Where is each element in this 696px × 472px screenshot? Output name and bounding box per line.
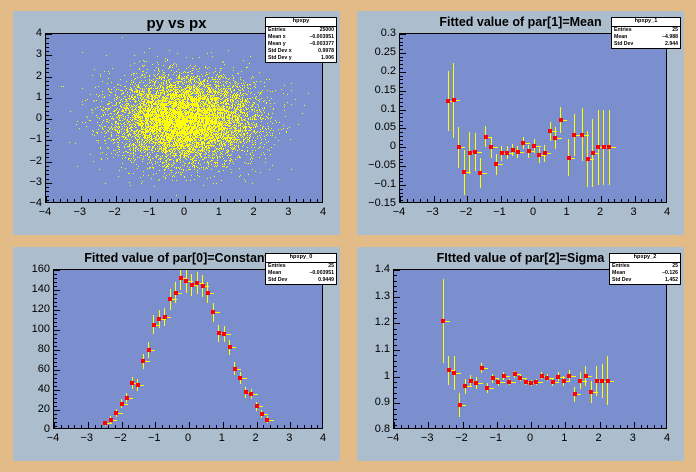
pad-py-vs-px: py vs px−4−3−2−101234−4−3−2−101234hpxpyE… — [13, 11, 340, 235]
scatter-point — [302, 113, 303, 114]
scatter-point — [121, 136, 122, 137]
scatter-point — [104, 97, 105, 98]
x-minor-tick — [157, 199, 158, 202]
scatter-point — [213, 183, 214, 184]
x-minor-tick — [282, 199, 283, 202]
scatter-point — [291, 104, 292, 105]
scatter-point — [221, 76, 222, 77]
scatter-point — [109, 108, 110, 109]
scatter-point — [272, 113, 273, 114]
y-minor-tick — [46, 51, 49, 52]
scatter-point — [217, 151, 218, 152]
scatter-point — [217, 157, 218, 158]
scatter-point — [279, 122, 280, 123]
x-tick — [220, 196, 221, 202]
scatter-point — [111, 123, 112, 124]
scatter-point — [227, 166, 228, 167]
scatter-point — [115, 154, 116, 155]
scatter-point — [199, 57, 200, 58]
scatter-point — [284, 110, 285, 111]
scatter-point — [108, 114, 109, 115]
scatter-point — [209, 143, 210, 144]
scatter-point — [254, 147, 255, 148]
scatter-point — [121, 90, 122, 91]
scatter-point — [203, 134, 204, 135]
scatter-point — [175, 173, 176, 174]
scatter-point — [238, 123, 239, 124]
y-minor-tick — [46, 47, 49, 48]
scatter-point — [138, 150, 139, 151]
scatter-point — [221, 75, 222, 76]
scatter-point — [101, 101, 102, 102]
scatter-point — [138, 148, 139, 149]
scatter-point — [263, 147, 264, 148]
scatter-point — [134, 63, 135, 64]
scatter-point — [142, 146, 143, 147]
scatter-point — [149, 48, 150, 49]
scatter-point — [115, 150, 116, 151]
y-tick — [46, 55, 52, 56]
scatter-point — [123, 137, 124, 138]
scatter-point — [109, 129, 110, 130]
scatter-point — [131, 129, 132, 130]
scatter-point — [260, 137, 261, 138]
scatter-point — [116, 109, 117, 110]
scatter-point — [166, 175, 167, 176]
scatter-point — [243, 90, 244, 91]
scatter-point — [133, 82, 134, 83]
scatter-point — [165, 61, 166, 62]
scatter-point — [212, 160, 213, 161]
scatter-point — [257, 126, 258, 127]
scatter-point — [208, 98, 209, 99]
scatter-point — [143, 156, 144, 157]
scatter-point — [158, 73, 159, 74]
scatter-point — [255, 144, 256, 145]
scatter-point — [97, 133, 98, 134]
y-minor-tick — [46, 68, 49, 69]
scatter-point — [249, 141, 250, 142]
scatter-point — [239, 176, 240, 177]
scatter-point — [180, 172, 181, 173]
scatter-point — [93, 161, 94, 162]
scatter-point — [252, 97, 253, 98]
scatter-point — [105, 114, 106, 115]
scatter-point — [291, 169, 292, 170]
scatter-point — [230, 88, 231, 89]
scatter-point — [89, 120, 90, 121]
y-minor-tick — [46, 123, 49, 124]
scatter-point — [266, 132, 267, 133]
scatter-point — [96, 94, 97, 95]
scatter-point — [227, 155, 228, 156]
scatter-point — [154, 151, 155, 152]
scatter-point — [186, 180, 187, 181]
x-minor-tick — [136, 199, 137, 202]
scatter-point — [250, 93, 251, 94]
scatter-point — [131, 158, 132, 159]
scatter-point — [214, 145, 215, 146]
scatter-point — [217, 156, 218, 157]
scatter-point — [229, 104, 230, 105]
scatter-point — [157, 162, 158, 163]
scatter-point — [230, 169, 231, 170]
scatter-point — [272, 91, 273, 92]
scatter-point — [115, 105, 116, 106]
scatter-point — [196, 160, 197, 161]
scatter-point — [226, 167, 227, 168]
x-minor-tick — [67, 199, 68, 202]
scatter-point — [104, 136, 105, 137]
scatter-point — [111, 82, 112, 83]
scatter-point — [215, 88, 216, 89]
scatter-point — [142, 144, 143, 145]
scatter-point — [124, 147, 125, 148]
scatter-point — [184, 163, 185, 164]
y-minor-tick — [46, 115, 49, 116]
scatter-point — [140, 77, 141, 78]
y-tick — [46, 119, 52, 120]
x-tick — [289, 196, 290, 202]
scatter-point — [257, 136, 258, 137]
scatter-point — [95, 108, 96, 109]
scatter-point — [249, 63, 250, 64]
scatter-point — [249, 111, 250, 112]
scatter-point — [184, 177, 185, 178]
y-minor-tick — [46, 81, 49, 82]
scatter-point — [196, 166, 197, 167]
scatter-point — [205, 94, 206, 95]
scatter-point — [222, 151, 223, 152]
y-minor-tick — [46, 85, 49, 86]
scatter-point — [118, 133, 119, 134]
scatter-point — [233, 132, 234, 133]
x-minor-tick — [178, 199, 179, 202]
y-minor-tick — [46, 145, 49, 146]
scatter-point — [253, 77, 254, 78]
scatter-point — [96, 132, 97, 133]
y-minor-tick — [46, 102, 49, 103]
x-minor-tick — [310, 199, 311, 202]
scatter-point — [104, 112, 105, 113]
scatter-point — [120, 123, 121, 124]
scatter-point — [200, 164, 201, 165]
root-canvas: py vs px−4−3−2−101234−4−3−2−101234hpxpyE… — [0, 0, 696, 472]
scatter-point — [132, 130, 133, 131]
x-minor-tick — [192, 199, 193, 202]
scatter-point — [221, 85, 222, 86]
scatter-point — [256, 132, 257, 133]
scatter-point — [129, 144, 130, 145]
scatter-point — [211, 169, 212, 170]
y-minor-tick — [46, 111, 49, 112]
scatter-point — [263, 126, 264, 127]
scatter-point — [239, 168, 240, 169]
scatter-point — [187, 166, 188, 167]
scatter-point — [191, 83, 192, 84]
scatter-point — [107, 83, 108, 84]
y-minor-tick — [46, 200, 49, 201]
scatter-point — [270, 121, 271, 122]
scatter-point — [111, 140, 112, 141]
scatter-point — [136, 107, 137, 108]
scatter-point — [140, 177, 141, 178]
y-minor-tick — [46, 89, 49, 90]
scatter-point — [109, 138, 110, 139]
scatter-point — [207, 53, 208, 54]
scatter-point — [242, 131, 243, 132]
scatter-point — [159, 97, 160, 98]
scatter-point — [205, 87, 206, 88]
scatter-point — [119, 151, 120, 152]
scatter-point — [210, 177, 211, 178]
y-minor-tick — [46, 166, 49, 167]
scatter-point — [242, 150, 243, 151]
scatter-point — [224, 166, 225, 167]
scatter-point — [278, 129, 279, 130]
scatter-point — [283, 128, 284, 129]
scatter-point — [172, 165, 173, 166]
scatter-point — [226, 88, 227, 89]
scatter-point — [231, 172, 232, 173]
scatter-point — [105, 109, 106, 110]
scatter-point — [255, 140, 256, 141]
scatter-point — [85, 122, 86, 123]
scatter-point — [237, 157, 238, 158]
scatter-point — [111, 153, 112, 154]
y-minor-tick — [46, 106, 49, 107]
scatter-point — [173, 160, 174, 161]
scatter-point — [154, 70, 155, 71]
scatter-point — [152, 139, 153, 140]
x-minor-tick — [199, 199, 200, 202]
scatter-point — [103, 110, 104, 111]
scatter-point — [106, 154, 107, 155]
scatter-point — [237, 106, 238, 107]
scatter-point — [173, 74, 174, 75]
scatter-point — [216, 183, 217, 184]
scatter-point — [212, 56, 213, 57]
scatter-point — [159, 179, 160, 180]
scatter-point — [100, 106, 101, 107]
scatter-point — [87, 117, 88, 118]
scatter-point — [122, 134, 123, 135]
scatter-point — [244, 110, 245, 111]
scatter-point — [96, 115, 97, 116]
scatter-point — [153, 90, 154, 91]
scatter-point — [218, 97, 219, 98]
scatter-point — [130, 185, 131, 186]
scatter-point — [255, 133, 256, 134]
scatter-point — [176, 87, 177, 88]
scatter-point — [191, 175, 192, 176]
scatter-point — [190, 159, 191, 160]
scatter-point — [124, 126, 125, 127]
x-minor-tick — [74, 199, 75, 202]
scatter-point — [150, 82, 151, 83]
scatter-point — [247, 109, 248, 110]
scatter-point — [252, 140, 253, 141]
scatter-point — [252, 142, 253, 143]
scatter-point — [123, 152, 124, 153]
scatter-point — [230, 155, 231, 156]
scatter-point — [112, 124, 113, 125]
scatter-point — [130, 150, 131, 151]
scatter-point — [135, 78, 136, 79]
x-minor-tick — [206, 199, 207, 202]
scatter-point — [139, 69, 140, 70]
scatter-point — [82, 52, 83, 53]
scatter-point — [189, 84, 190, 85]
y-minor-tick — [46, 174, 49, 175]
scatter-point — [105, 126, 106, 127]
scatter-point — [174, 63, 175, 64]
y-minor-tick — [46, 187, 49, 188]
scatter-point — [138, 100, 139, 101]
scatter-point — [114, 87, 115, 88]
scatter-point — [143, 158, 144, 159]
scatter-point — [196, 77, 197, 78]
scatter-point — [115, 91, 116, 92]
scatter-point — [121, 131, 122, 132]
scatter-point — [250, 153, 251, 154]
scatter-point — [124, 75, 125, 76]
scatter-point — [131, 145, 132, 146]
scatter-point — [144, 144, 145, 145]
scatter-point — [264, 100, 265, 101]
scatter-point — [201, 167, 202, 168]
scatter-point — [224, 145, 225, 146]
x-minor-tick — [122, 199, 123, 202]
x-tick — [255, 196, 256, 202]
scatter-point — [142, 135, 143, 136]
scatter-point — [99, 169, 100, 170]
scatter-point — [176, 168, 177, 169]
scatter-point — [99, 125, 100, 126]
scatter-point — [233, 90, 234, 91]
scatter-point — [182, 82, 183, 83]
scatter-point — [197, 175, 198, 176]
scatter-point — [263, 101, 264, 102]
scatter-point — [171, 79, 172, 80]
scatter-point — [144, 77, 145, 78]
scatter-point — [246, 109, 247, 110]
scatter-point — [145, 80, 146, 81]
scatter-point — [176, 195, 177, 196]
scatter-point — [260, 143, 261, 144]
scatter-point — [122, 158, 123, 159]
y-minor-tick — [46, 157, 49, 158]
scatter-point — [140, 88, 141, 89]
scatter-point — [109, 73, 110, 74]
scatter-point — [111, 102, 112, 103]
scatter-point — [190, 65, 191, 66]
scatter-point — [142, 161, 143, 162]
y-tick — [46, 98, 52, 99]
scatter-point — [143, 171, 144, 172]
scatter-point — [90, 120, 91, 121]
scatter-point — [168, 74, 169, 75]
scatter-point — [253, 155, 254, 156]
scatter-point — [160, 87, 161, 88]
x-minor-tick — [234, 199, 235, 202]
scatter-point — [248, 91, 249, 92]
x-tick — [81, 196, 82, 202]
scatter-point — [180, 158, 181, 159]
scatter-point — [143, 175, 144, 176]
scatter-point — [269, 132, 270, 133]
scatter-point — [160, 161, 161, 162]
scatter-point — [208, 77, 209, 78]
scatter-point — [198, 163, 199, 164]
scatter-point — [116, 114, 117, 115]
scatter-point — [167, 77, 168, 78]
scatter-point — [259, 99, 260, 100]
scatter-point — [276, 122, 277, 123]
scatter-point — [251, 147, 252, 148]
scatter-point — [133, 158, 134, 159]
scatter-point — [132, 84, 133, 85]
scatter-point — [124, 122, 125, 123]
scatter-point — [118, 176, 119, 177]
scatter-point — [129, 146, 130, 147]
scatter-point — [109, 120, 110, 121]
x-minor-tick — [95, 199, 96, 202]
scatter-point — [149, 76, 150, 77]
scatter-point — [111, 89, 112, 90]
scatter-point — [290, 139, 291, 140]
scatter-point — [268, 128, 269, 129]
scatter-point — [251, 92, 252, 93]
scatter-point — [148, 137, 149, 138]
scatter-point — [195, 163, 196, 164]
scatter-point — [217, 74, 218, 75]
scatter-point — [225, 147, 226, 148]
scatter-point — [127, 94, 128, 95]
scatter-point — [101, 132, 102, 133]
scatter-point — [261, 139, 262, 140]
x-minor-tick — [143, 199, 144, 202]
scatter-point — [247, 135, 248, 136]
scatter-point — [261, 112, 262, 113]
scatter-point — [164, 72, 165, 73]
scatter-point — [261, 121, 262, 122]
scatter-point — [181, 94, 182, 95]
scatter-point — [198, 71, 199, 72]
scatter-point — [238, 137, 239, 138]
scatter-point — [151, 162, 152, 163]
x-tick — [185, 196, 186, 202]
scatter-point — [254, 111, 255, 112]
scatter-point — [219, 72, 220, 73]
scatter-point — [213, 81, 214, 82]
scatter-point — [251, 133, 252, 134]
scatter-point — [255, 107, 256, 108]
scatter-point — [225, 77, 226, 78]
scatter-point — [134, 119, 135, 120]
scatter-point — [139, 68, 140, 69]
scatter-point — [270, 154, 271, 155]
scatter-point — [209, 67, 210, 68]
scatter-point — [106, 132, 107, 133]
scatter-point — [298, 124, 299, 125]
y-minor-tick — [46, 38, 49, 39]
scatter-point — [113, 119, 114, 120]
scatter-point — [119, 170, 120, 171]
scatter-point — [251, 161, 252, 162]
scatter-point — [102, 152, 103, 153]
x-minor-tick — [109, 199, 110, 202]
